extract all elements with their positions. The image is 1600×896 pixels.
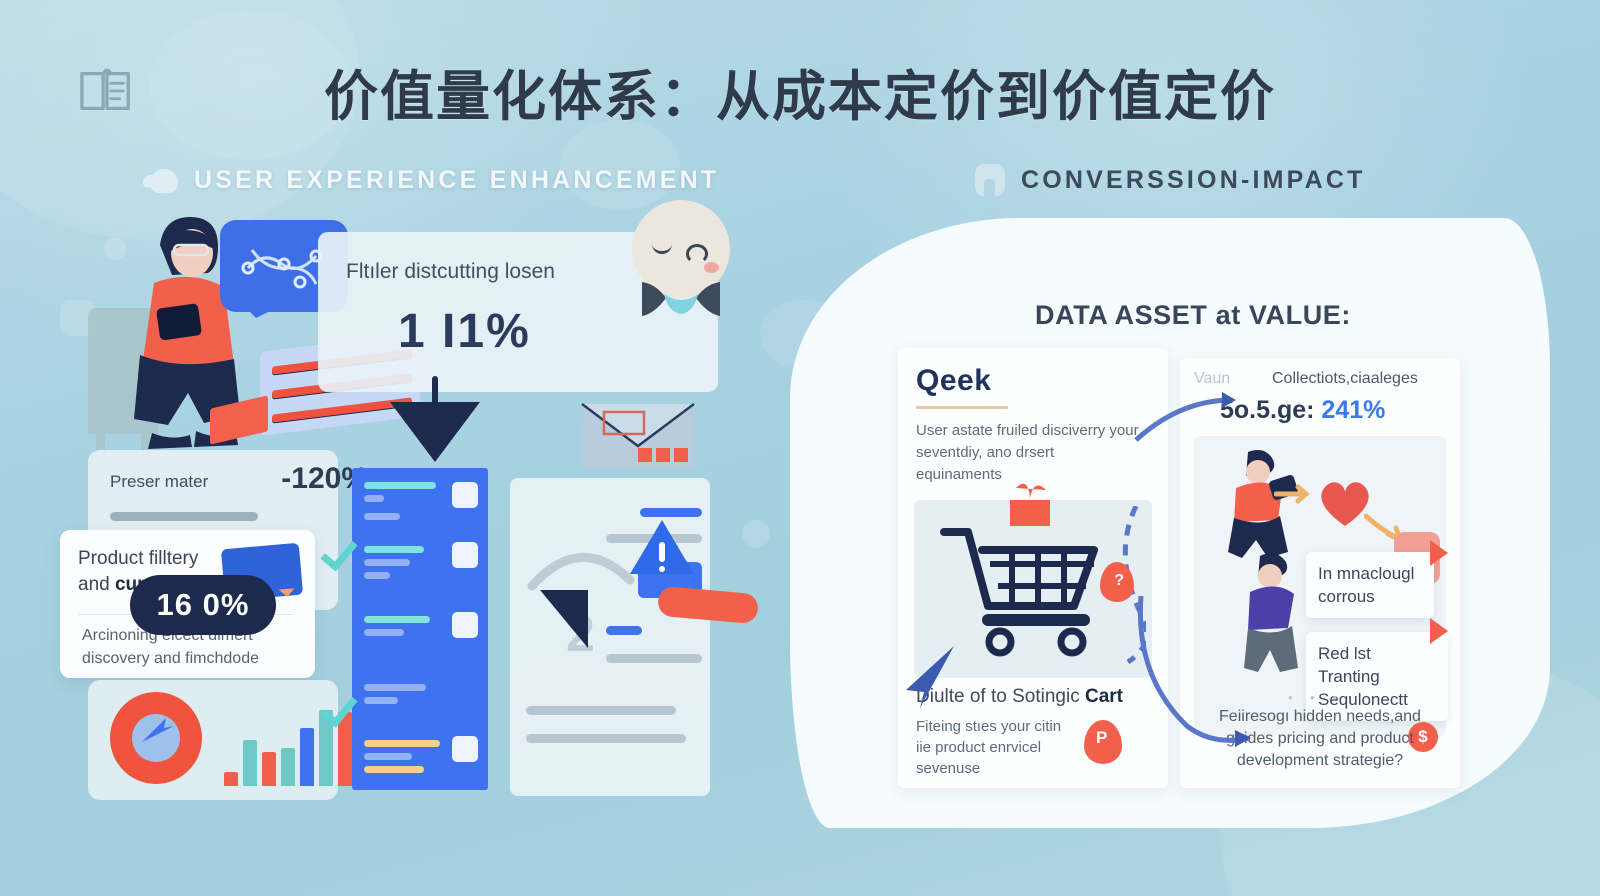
- arrow-down-left-icon: [870, 640, 960, 710]
- mini-card-1: In mnaclougl corrous: [1306, 552, 1434, 618]
- envelope-icon: [578, 390, 698, 472]
- section-label-right: CONVERSSION-IMPACT: [1021, 166, 1366, 195]
- stat-card-value: 1 I1%: [398, 304, 531, 359]
- kicker-right: Collectiots,ciaaleges: [1272, 370, 1418, 388]
- product-title-line2-plain: and: [78, 574, 115, 595]
- left-composition: Fltıler distcutting losen Aſ 1 I1% Prese…: [60, 190, 760, 830]
- target-arrow-icon: [136, 708, 180, 752]
- sail-shape: [540, 590, 588, 648]
- qeek-body: User astate fruiled disciverry your seve…: [916, 420, 1142, 486]
- bowtie-icon: [640, 278, 722, 320]
- page-title: 价值量化体系：从成本定价到价值定价: [0, 52, 1600, 131]
- play-triangle-icon: [1430, 618, 1448, 644]
- metric-value: 241%: [1321, 396, 1385, 424]
- play-triangle-icon: [1430, 540, 1448, 566]
- qeek-foot-title-bold: Cart: [1085, 686, 1123, 707]
- bar-chart: [224, 706, 371, 786]
- qeek-foot-body: Fiteing stıes your citin iie product enr…: [916, 716, 1066, 779]
- center-metric-badge: 16 0%: [130, 575, 276, 635]
- infographic-canvas: 价值量化体系：从成本定价到价值定价 USER EXPERIENCE ENHANC…: [0, 0, 1600, 896]
- warning-exclaim: [659, 542, 665, 562]
- price-pin-icon: [1084, 720, 1122, 764]
- app-square-icon: [975, 164, 1005, 196]
- arc-decoration: [526, 534, 636, 594]
- mascot-face-illustration: [632, 200, 730, 298]
- data-asset-heading: DATA ASSET at VALUE:: [1035, 300, 1351, 331]
- arrow-right-icon: [1274, 482, 1318, 506]
- qeek-card: Qeek User astate fruiled disciverry your…: [898, 348, 1168, 788]
- down-arrow-icon: [390, 402, 480, 462]
- stat-card-label: Fltıler distcutting losen: [346, 260, 555, 284]
- curve-arrow-down-icon: [1135, 590, 1255, 760]
- curve-arrow-up-icon: [1130, 390, 1250, 450]
- product-title-line1: Product filltery: [78, 548, 198, 569]
- charts-card: [88, 680, 338, 800]
- preser-label: Preser mater: [110, 472, 208, 492]
- kicker-left: Vaun: [1194, 370, 1230, 388]
- cloud-glyph-icon: [150, 169, 178, 193]
- question-mark: ?: [1114, 572, 1124, 590]
- title-underline: [916, 406, 1008, 409]
- warning-dot: [659, 566, 665, 572]
- section-header-right: CONVERSSION-IMPACT: [975, 164, 1366, 196]
- blue-list-panel: [352, 468, 488, 790]
- qeek-title: Qeek: [916, 364, 991, 398]
- gift-icon: [1000, 478, 1060, 536]
- pagination-dots: • • •: [1288, 690, 1344, 705]
